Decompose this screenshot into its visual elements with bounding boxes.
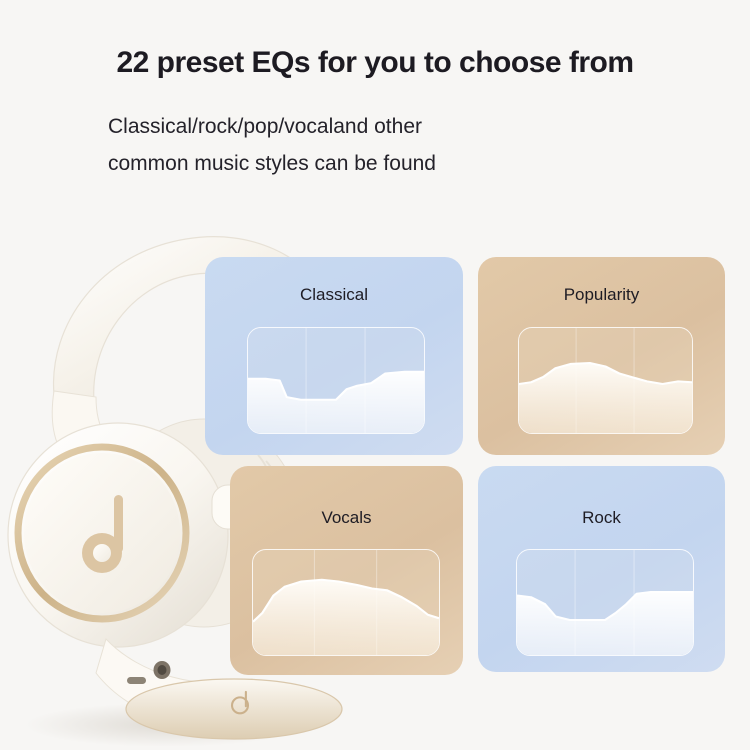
subtitle-line-2: common music styles can be found bbox=[108, 145, 568, 182]
card-label-rock: Rock bbox=[478, 508, 725, 528]
card-label-vocals: Vocals bbox=[230, 508, 463, 528]
eq-curve-rock bbox=[516, 549, 694, 656]
page-title: 22 preset EQs for you to choose from bbox=[0, 46, 750, 80]
eq-preset-card-rock[interactable]: Rock bbox=[478, 466, 725, 672]
card-label-popularity: Popularity bbox=[478, 285, 725, 305]
eq-curve-vocals bbox=[252, 549, 440, 656]
eq-preset-card-popularity[interactable]: Popularity bbox=[478, 257, 725, 455]
page-subtitle: Classical/rock/pop/vocaland other common… bbox=[108, 108, 568, 182]
usb-c-port bbox=[127, 677, 146, 684]
eq-curve-classical bbox=[247, 327, 425, 434]
card-label-classical: Classical bbox=[205, 285, 463, 305]
eq-curve-popularity bbox=[518, 327, 693, 434]
eq-preset-card-classical[interactable]: Classical bbox=[205, 257, 463, 455]
eq-preset-card-vocals[interactable]: Vocals bbox=[230, 466, 463, 675]
promo-page: 22 preset EQs for you to choose from Cla… bbox=[0, 0, 750, 750]
subtitle-line-1: Classical/rock/pop/vocaland other bbox=[108, 108, 568, 145]
eq-preset-card-grid: Classical bbox=[205, 257, 725, 675]
